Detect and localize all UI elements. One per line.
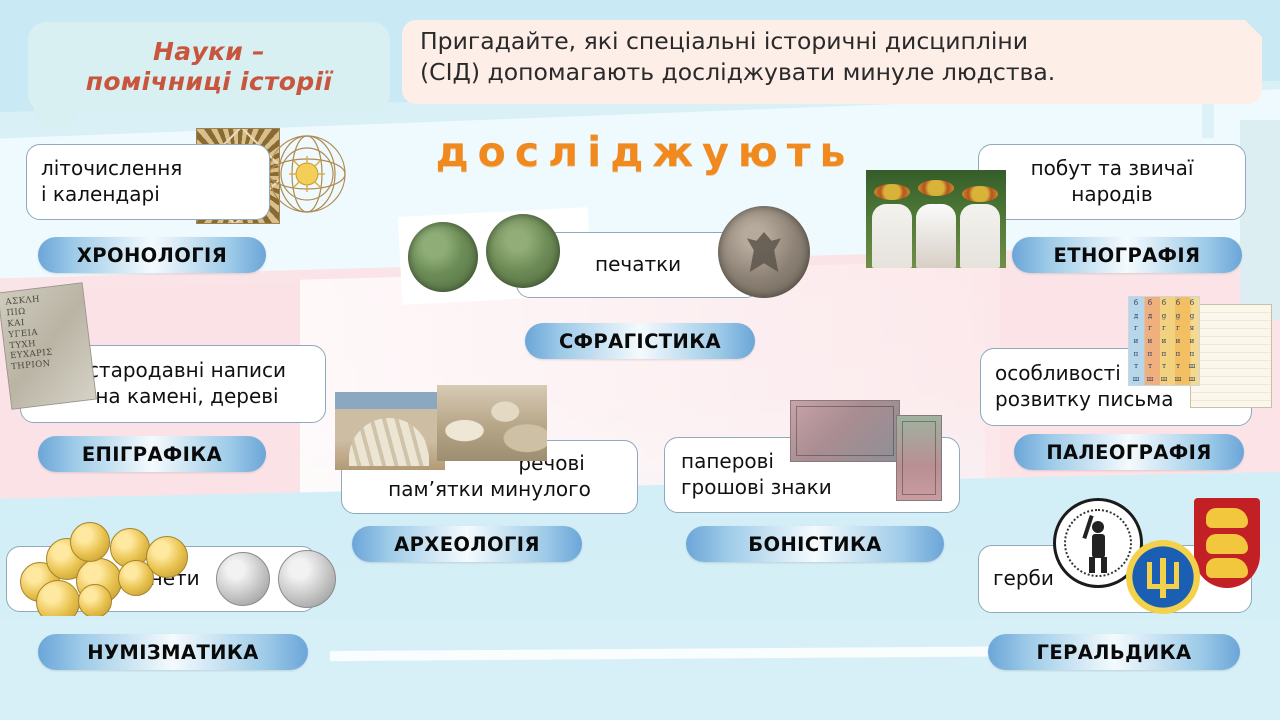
letter-cell: т bbox=[1162, 362, 1166, 370]
manuscript-page-image bbox=[1190, 304, 1272, 408]
greek-stone-inscription-image: ΑΣΚΛΗΠΙΩΚΑΙΥΓΕΙΑΤΥΧΗΕΥΧΑΡΙΣΤΗΡΙΟΝ bbox=[0, 282, 97, 410]
silver-coin-head-image bbox=[216, 552, 270, 606]
letter-cell: г bbox=[1176, 324, 1180, 332]
letter-cell: ш bbox=[1161, 375, 1168, 383]
discipline-label-bonistics[interactable]: БОНІСТИКА bbox=[686, 526, 944, 562]
prompt-text: Пригадайте, які спеціальні історичні дис… bbox=[420, 26, 1240, 88]
epigraphy-desc-line-1: стародавні написи bbox=[88, 358, 286, 384]
banknote-25-rubles-image bbox=[790, 400, 900, 462]
ethnography-desc-line-2: народів bbox=[1031, 182, 1194, 208]
discipline-label-epigraphy[interactable]: ЕПІГРАФІКА bbox=[38, 436, 266, 472]
ethnography-desc-line-1: побут та звичаї bbox=[1031, 156, 1194, 182]
archaeology-desc-line-2: пам’ятки минулого bbox=[388, 477, 591, 503]
center-heading: досліджують bbox=[410, 128, 880, 176]
bronze-seal-image bbox=[486, 214, 560, 288]
armillary-sphere-image bbox=[264, 130, 350, 222]
letter-cell: б bbox=[1162, 299, 1166, 307]
chronology-label-text: ХРОНОЛОГІЯ bbox=[77, 244, 227, 267]
letter-cell: т bbox=[1148, 362, 1152, 370]
discipline-label-chronology[interactable]: ХРОНОЛОГІЯ bbox=[38, 237, 266, 273]
heraldry-label-text: ГЕРАЛЬДИКА bbox=[1037, 641, 1192, 664]
letter-cell: д bbox=[1148, 312, 1152, 320]
excavation-pottery-photo bbox=[437, 385, 547, 461]
cyrillic-letter-table-image: б б б б б д д g g g г г г г я и и и и и … bbox=[1128, 296, 1200, 386]
ukraine-tryzub-emblem-image bbox=[1126, 540, 1200, 614]
letter-cell: б bbox=[1134, 299, 1138, 307]
silver-coin-horseman-image bbox=[278, 550, 336, 608]
prompt-line-2: (СІД) допомагають досліджувати минуле лю… bbox=[420, 57, 1240, 88]
bonistics-label-text: БОНІСТИКА bbox=[748, 533, 882, 556]
english-lions-shield-image bbox=[1194, 498, 1260, 588]
letter-cell: и bbox=[1134, 337, 1139, 345]
letter-cell: п bbox=[1148, 350, 1153, 358]
folk-costume-photo bbox=[866, 170, 1006, 268]
letter-cell: д bbox=[1134, 312, 1138, 320]
armillary-sphere-icon bbox=[264, 130, 350, 222]
paleography-label-text: ПАЛЕОГРАФІЯ bbox=[1046, 441, 1211, 464]
chronology-desc-line-2: і календарі bbox=[41, 182, 182, 208]
discipline-label-sfragistics[interactable]: СФРАГІСТИКА bbox=[525, 323, 755, 359]
letter-cell: б bbox=[1148, 299, 1152, 307]
letter-cell: g bbox=[1176, 312, 1180, 320]
letter-cell: ш bbox=[1133, 375, 1140, 383]
background-band-right-edge bbox=[1240, 120, 1280, 320]
prompt-card-stem bbox=[1202, 104, 1214, 138]
letter-cell: б bbox=[1176, 299, 1180, 307]
discipline-label-numismatics[interactable]: НУМІЗМАТИКА bbox=[38, 634, 308, 670]
letter-cell: п bbox=[1176, 350, 1181, 358]
paleography-desc-line-2: розвитку письма bbox=[995, 387, 1173, 413]
letter-cell: и bbox=[1148, 337, 1153, 345]
page-title: Науки – помічниці історії bbox=[28, 22, 390, 112]
numismatics-label-text: НУМІЗМАТИКА bbox=[87, 641, 258, 664]
tryzub-icon bbox=[1126, 540, 1200, 614]
chronology-desc-line-1: літочислення bbox=[41, 156, 182, 182]
stone-inscription-text: ΑΣΚΛΗΠΙΩΚΑΙΥΓΕΙΑΤΥΧΗΕΥΧΑΡΙΣΤΗΡΙΟΝ bbox=[5, 291, 85, 373]
letter-cell: g bbox=[1190, 312, 1194, 320]
letter-cell: g bbox=[1162, 312, 1166, 320]
letter-cell: п bbox=[1190, 350, 1195, 358]
discipline-label-paleography[interactable]: ПАЛЕОГРАФІЯ bbox=[1014, 434, 1244, 470]
discipline-label-archaeology[interactable]: АРХЕОЛОГІЯ bbox=[352, 526, 582, 562]
sfragistics-description: печатки bbox=[595, 252, 681, 278]
bronze-seal-image bbox=[408, 222, 478, 292]
heraldry-description: герби bbox=[993, 566, 1054, 592]
page-title-line-2: помічниці історії bbox=[86, 67, 332, 98]
letter-cell: п bbox=[1162, 350, 1167, 358]
ethnography-description: побут та звичаї народів bbox=[1031, 156, 1194, 207]
discipline-label-ethnography[interactable]: ЕТНОГРАФІЯ bbox=[1012, 237, 1242, 273]
sfragistics-label-text: СФРАГІСТИКА bbox=[559, 330, 721, 353]
letter-cell: и bbox=[1162, 337, 1167, 345]
gold-coins-image bbox=[18, 518, 193, 616]
discipline-label-heraldry[interactable]: ГЕРАЛЬДИКА bbox=[988, 634, 1240, 670]
banknote-vertical-image bbox=[896, 415, 942, 501]
letter-cell: ш bbox=[1147, 375, 1154, 383]
bonistics-desc-line-2: грошові знаки bbox=[681, 475, 832, 501]
letter-cell: г bbox=[1162, 324, 1166, 332]
letter-cell: ш bbox=[1175, 375, 1182, 383]
page-title-line-1: Науки – bbox=[86, 37, 332, 68]
archaeology-label-text: АРХЕОЛОГІЯ bbox=[394, 533, 540, 556]
letter-cell: г bbox=[1134, 324, 1138, 332]
epigraphy-label-text: ЕПІГРАФІКА bbox=[82, 443, 222, 466]
letter-cell: г bbox=[1148, 324, 1152, 332]
letter-cell: п bbox=[1134, 350, 1139, 358]
prompt-card-notch bbox=[1245, 20, 1263, 38]
letter-cell: ш bbox=[1189, 362, 1196, 370]
chronology-description-card: літочислення і календарі bbox=[26, 144, 270, 220]
letter-cell: б bbox=[1190, 299, 1194, 307]
slide-canvas: Науки – помічниці історії Пригадайте, як… bbox=[0, 0, 1280, 720]
letter-cell: и bbox=[1176, 337, 1181, 345]
prompt-line-1: Пригадайте, які спеціальні історичні дис… bbox=[420, 26, 1240, 57]
letter-cell: я bbox=[1190, 324, 1194, 332]
letter-cell: т bbox=[1176, 362, 1180, 370]
letter-cell: и bbox=[1190, 337, 1195, 345]
letter-cell: т bbox=[1134, 362, 1138, 370]
ethnography-label-text: ЕТНОГРАФІЯ bbox=[1054, 244, 1201, 267]
chronology-description: літочислення і календарі bbox=[41, 156, 182, 207]
eagle-seal-image bbox=[718, 206, 810, 298]
epigraphy-desc-line-2: на камені, дереві bbox=[88, 384, 286, 410]
mammoth-bone-dwelling-photo bbox=[335, 392, 445, 470]
letter-cell: ш bbox=[1189, 375, 1196, 383]
ethnography-description-card: побут та звичаї народів bbox=[978, 144, 1246, 220]
